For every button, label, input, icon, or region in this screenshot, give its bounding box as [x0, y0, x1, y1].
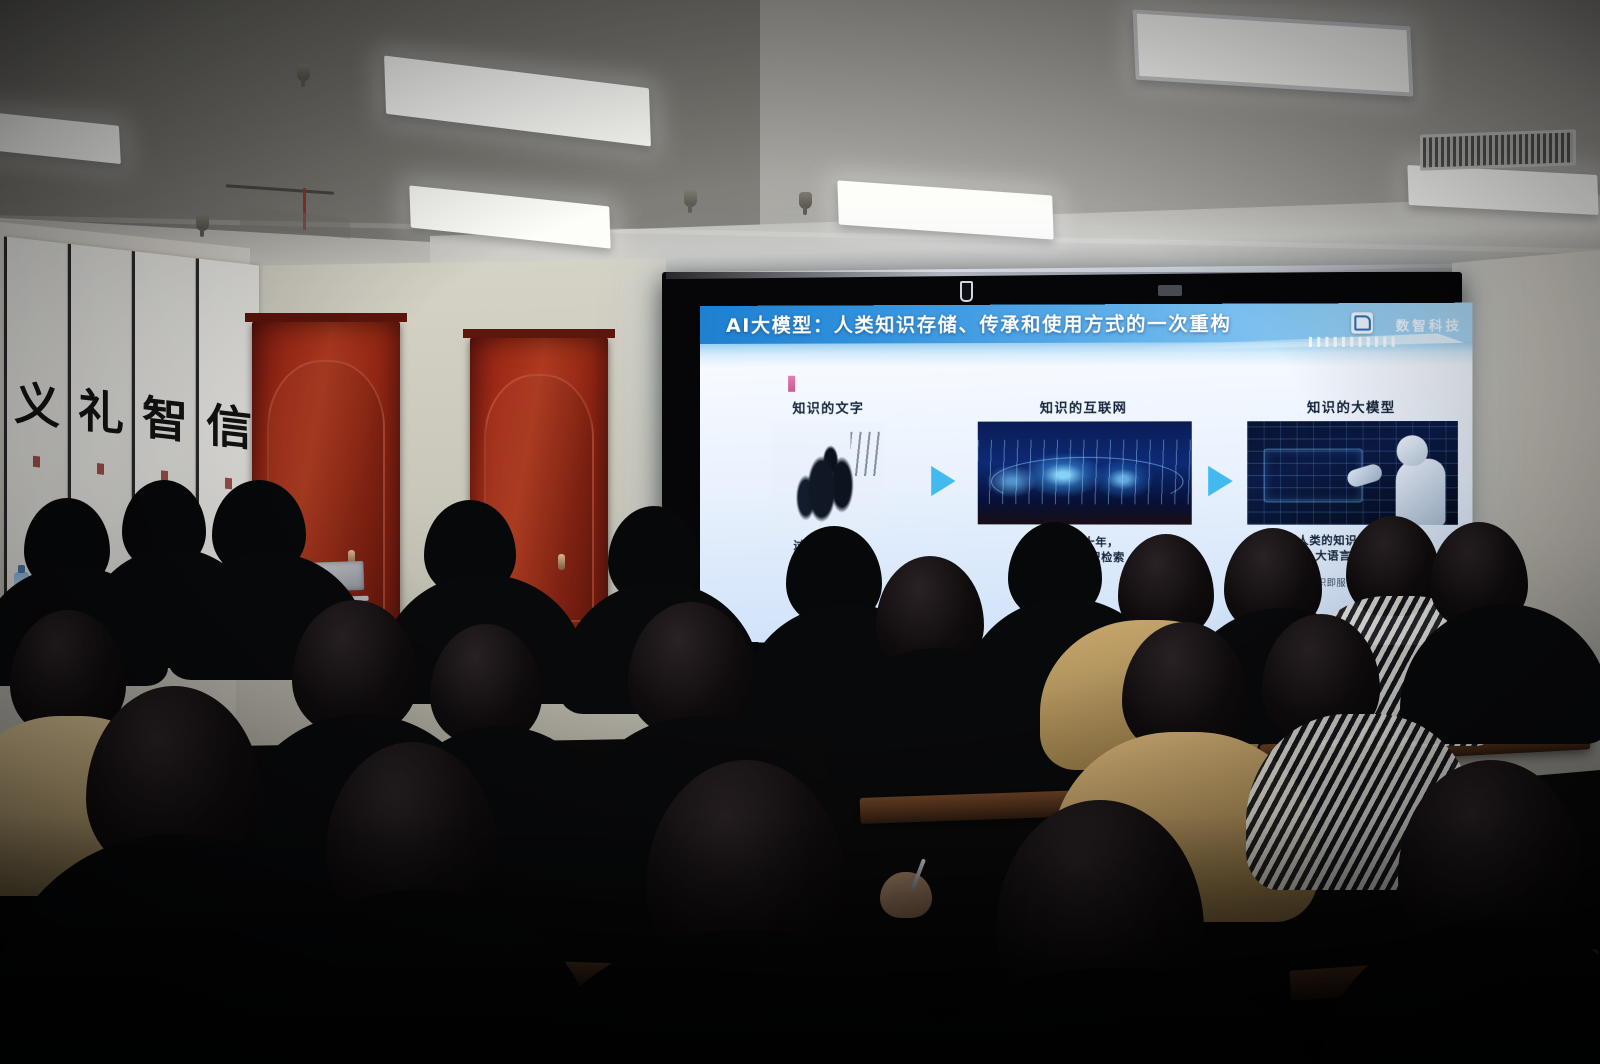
desk — [860, 786, 1201, 824]
calligraphy-char: 义 — [7, 379, 67, 432]
calligraphy-board: 智 — [132, 251, 195, 658]
attendee-shoulders — [826, 648, 1050, 788]
door-handle[interactable] — [348, 550, 355, 566]
calligraphy-board: 义 — [4, 236, 67, 643]
column-caption: 过去三十年， 互联网知识检索 — [966, 534, 1202, 565]
wall-right — [1452, 250, 1600, 783]
attendee-shoulders-striped — [1246, 714, 1476, 890]
door-panel — [484, 374, 594, 622]
attendee-shoulders-front — [534, 930, 954, 1064]
column-caption: 把人类的知识体系迁移到 大语言模型中 — [1241, 533, 1462, 564]
attendee-shoulders — [1052, 732, 1318, 922]
attendee-shoulders — [382, 726, 618, 894]
robot-body — [1395, 458, 1445, 525]
oracle-strokes — [850, 432, 880, 476]
attendee-head-front — [1398, 760, 1584, 956]
display-sensor-icon — [1158, 285, 1182, 296]
attendee-shoulders — [566, 716, 832, 896]
calligraphy-char: 信 — [199, 401, 259, 454]
calligraphy-wall-panel-group: 义 礼 智 信 — [0, 236, 250, 684]
column-subcaption: 知识即服务 / 智能体 — [1241, 575, 1462, 589]
slide-accent-marker — [788, 376, 795, 392]
seal-mark — [33, 456, 40, 468]
column-caption: 过去五千年， 中国方块字 — [730, 538, 927, 568]
door-frame — [245, 313, 407, 322]
brand-logo-text: 数智科技 — [1396, 315, 1462, 335]
sprinkler-head — [196, 214, 209, 231]
network-illustration — [978, 421, 1192, 524]
calligraphy-board: 礼 — [68, 244, 131, 651]
column-image-network — [978, 421, 1192, 524]
logo-glyph-icon — [1354, 315, 1371, 330]
chair-back — [949, 657, 1041, 759]
bottom-shadow-overlay — [0, 814, 1600, 1064]
slide-content: AI大模型：人类知识存储、传承和使用方式的一次重构 数智科技 知识的文字 过去五… — [700, 303, 1472, 646]
attendee-shoulders-front — [0, 834, 360, 1064]
door-left[interactable] — [252, 322, 400, 640]
column-image-oracle — [772, 422, 885, 531]
hand-holding-pen — [880, 872, 932, 918]
attendee-shoulders-front — [1320, 920, 1600, 1064]
sprinkler-head — [684, 190, 697, 207]
attendee-head-front — [646, 760, 846, 974]
column-image-robot — [1247, 421, 1458, 525]
seal-mark — [161, 470, 168, 482]
seal-mark — [225, 478, 232, 490]
column-subcaption: 甲骨文 · 竹简 — [730, 578, 927, 592]
chair-back — [465, 754, 553, 866]
door-handle[interactable] — [558, 554, 565, 570]
slide-columns: 知识的文字 过去五千年， 中国方块字 甲骨文 · 竹简 知识的互联网 — [700, 396, 1472, 645]
brand-logo-icon — [1351, 312, 1373, 333]
door-frame — [463, 329, 615, 338]
display-mount-clip-icon — [960, 281, 973, 302]
door-right[interactable] — [470, 338, 608, 640]
air-vent-grille — [1420, 129, 1576, 170]
seal-mark — [97, 463, 104, 475]
column-heading: 知识的互联网 — [966, 397, 1202, 417]
calligraphy-char: 礼 — [71, 386, 131, 439]
arrow-right-icon — [1208, 466, 1233, 496]
slide-band-ticks — [1309, 337, 1398, 347]
network-arc — [991, 456, 1184, 506]
door-panel — [267, 360, 385, 621]
desk — [1289, 949, 1600, 1001]
desk — [540, 961, 841, 997]
robot-head — [1397, 436, 1428, 467]
column-heading: 知识的大模型 — [1241, 397, 1462, 417]
sprinkler-head — [799, 192, 812, 209]
pen — [910, 858, 926, 891]
slide-title: AI大模型：人类知识存储、传承和使用方式的一次重构 — [726, 309, 1232, 338]
arrow-right-icon — [931, 466, 955, 496]
calligraphy-char: 智 — [135, 393, 195, 446]
attendee-shoulders-front — [902, 968, 1322, 1064]
attendee-shoulders-front — [238, 890, 596, 1064]
attendee-head-front — [996, 800, 1204, 1018]
lecture-hall-photo: 义 礼 智 信 AI大模型：人类知识存储、传承和使 — [0, 0, 1600, 1064]
sprinkler-head — [297, 64, 310, 81]
robot-illustration — [1247, 421, 1458, 525]
attendee-head-front — [326, 742, 498, 928]
column-heading: 知识的文字 — [730, 398, 927, 417]
oracle-illustration — [772, 422, 885, 531]
